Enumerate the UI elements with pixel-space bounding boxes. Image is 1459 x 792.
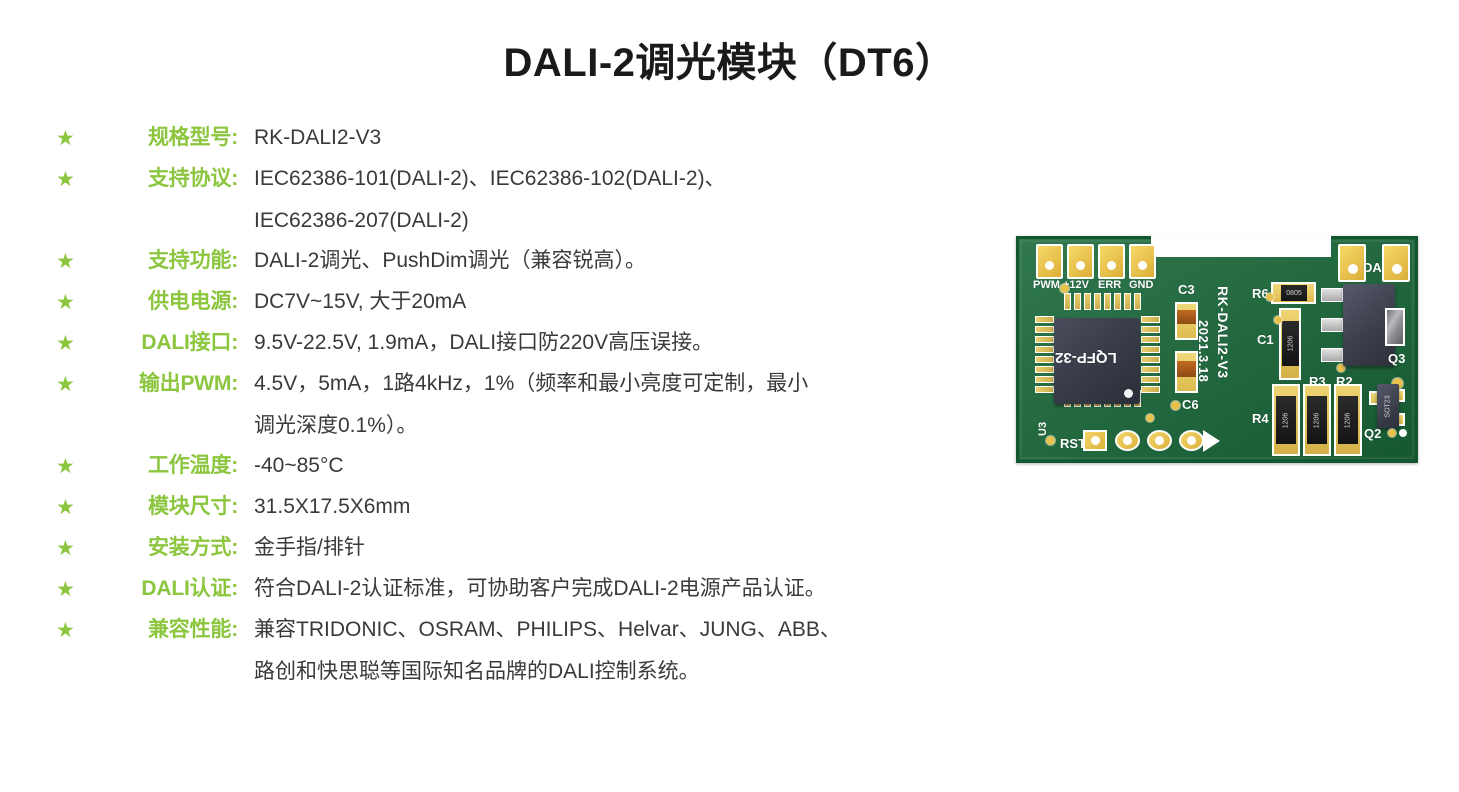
spec-value-line: 金手指/排针 [254,532,1006,563]
via [1266,293,1274,301]
pcb-triangle-marker [1203,430,1220,452]
via [1060,284,1069,293]
mcu-pin [1134,293,1141,310]
spec-label: 供电电源: [90,286,242,317]
component-code: 1206 [1282,412,1289,428]
spec-value: DALI-2调光、PushDim调光（兼容锐高）。 [242,245,1006,276]
star-icon: ★ [56,327,90,359]
star-icon: ★ [56,368,90,400]
mcu-pin [1074,293,1081,310]
star-icon: ★ [56,573,90,605]
star-icon: ★ [56,245,90,277]
mcu-pin [1141,386,1160,393]
silk-label-part-number: RK-DALI2-V3 [1215,286,1231,379]
spec-value-line: 兼容TRIDONIC、OSRAM、PHILIPS、Helvar、JUNG、ABB… [254,614,1006,645]
spec-value: 兼容TRIDONIC、OSRAM、PHILIPS、Helvar、JUNG、ABB… [242,614,1006,687]
spec-label: 工作温度: [90,450,242,481]
page-title: DALI-2调光模块（DT6） [0,30,1459,88]
spec-row: ★ 工作温度: -40~85°C [56,450,1006,482]
spec-value-line: RK-DALI2-V3 [254,122,1006,153]
spec-row: ★ DALI认证: 符合DALI-2认证标准，可协助客户完成DALI-2电源产品… [56,573,1006,605]
star-icon: ★ [56,286,90,318]
mcu-pins-top [1064,293,1144,310]
component-c1-body: 1206 [1282,321,1299,366]
spec-value-line: DALI-2调光、PushDim调光（兼容锐高）。 [254,245,1006,276]
spec-label: 输出PWM: [90,368,242,399]
silk-label-da: DA [1363,260,1382,275]
silk-label-c1: C1 [1257,332,1274,347]
spec-row: ★ 供电电源: DC7V~15V, 大于20mA [56,286,1006,318]
mcu-pin [1141,336,1160,343]
spec-value: 金手指/排针 [242,532,1006,563]
mcu-pin [1035,356,1054,363]
spec-value: 4.5V，5mA，1路4kHz，1%（频率和最小亮度可定制，最小 调光深度0.1… [242,368,1006,441]
mcu-pin [1104,293,1111,310]
mcu-pin1-dot [1124,389,1133,398]
spec-value-line: DC7V~15V, 大于20mA [254,286,1006,317]
pad-hole [1107,261,1116,270]
spec-row: ★ DALI接口: 9.5V-22.5V, 1.9mA，DALI接口防220V高… [56,327,1006,359]
component-c3-body [1177,310,1196,324]
pcb-module-image: PWM +12V ERR GND DA [1016,236,1418,463]
via [1388,429,1396,437]
silk-label-c6: C6 [1182,397,1199,412]
via [1046,436,1055,445]
mcu-pins-left [1035,316,1054,396]
spec-value-line: 路创和快思聪等国际知名品牌的DALI控制系统。 [254,656,1006,687]
spec-value-line: 4.5V，5mA，1路4kHz，1%（频率和最小亮度可定制，最小 [254,368,1006,399]
spec-row: ★ 输出PWM: 4.5V，5mA，1路4kHz，1%（频率和最小亮度可定制，最… [56,368,1006,441]
silk-label-c3: C3 [1178,282,1195,297]
star-icon: ★ [56,450,90,482]
pad-hole [1076,261,1085,270]
silk-label-gnd: GND [1129,279,1153,291]
mcu-pin [1035,376,1054,383]
via [1274,316,1282,324]
pad-hole [1392,264,1402,274]
silk-label-lqfp32: LQFP-32 [1055,349,1117,366]
pad-round-3 [1179,430,1204,451]
pad-da-1 [1338,244,1366,282]
mcu-pin [1035,346,1054,353]
component-code: 1206 [1287,336,1294,352]
mcu-pin [1035,386,1054,393]
spec-label: 兼容性能: [90,614,242,645]
pcb-top-notch [1151,235,1331,257]
pad-hole [1045,261,1054,270]
silk-label-q2: Q2 [1364,426,1381,441]
spec-list: ★ 规格型号: RK-DALI2-V3 ★ 支持协议: IEC62386-101… [56,122,1006,696]
pad-hole [1399,429,1407,437]
spec-value: 31.5X17.5X6mm [242,491,1006,522]
silk-label-date-code: 2021.3.18 [1196,320,1211,382]
mcu-pins-right [1141,316,1160,396]
spec-value: 9.5V-22.5V, 1.9mA，DALI接口防220V高压误接。 [242,327,1006,358]
spec-label: 规格型号: [90,122,242,153]
pad-rst [1083,430,1107,451]
star-icon: ★ [56,122,90,154]
mcu-pin [1141,376,1160,383]
component-r3-body: 1206 [1307,396,1327,444]
spec-row: ★ 安装方式: 金手指/排针 [56,532,1006,564]
spec-label: 支持协议: [90,163,242,194]
star-icon: ★ [56,614,90,646]
via [1146,414,1154,422]
via [1171,401,1180,410]
silk-label-err: ERR [1098,279,1121,291]
component-code: 1206 [1344,412,1351,428]
spec-row: ★ 兼容性能: 兼容TRIDONIC、OSRAM、PHILIPS、Helvar、… [56,614,1006,687]
mcu-pin [1035,326,1054,333]
mcu-pin [1141,356,1160,363]
mcu-pin [1064,293,1071,310]
product-spec-page: DALI-2调光模块（DT6） ★ 规格型号: RK-DALI2-V3 ★ 支持… [0,0,1459,792]
spec-value: RK-DALI2-V3 [242,122,1006,153]
pad-da-2 [1382,244,1410,282]
ic-lead [1321,348,1343,362]
mcu-pin [1141,326,1160,333]
spec-row: ★ 规格型号: RK-DALI2-V3 [56,122,1006,154]
spec-value: 符合DALI-2认证标准，可协助客户完成DALI-2电源产品认证。 [242,573,1006,604]
component-r4-body: 1206 [1276,396,1296,444]
component-c6-body [1177,361,1196,377]
silk-label-q3: Q3 [1388,351,1405,366]
component-r2-body: 1206 [1338,396,1358,444]
mcu-pin [1035,316,1054,323]
mcu-pin [1035,366,1054,373]
pad-hole [1348,264,1358,274]
mcu-pin [1114,293,1121,310]
spec-value: -40~85°C [242,450,1006,481]
component-code: 1206 [1313,412,1320,428]
spec-row: ★ 支持协议: IEC62386-101(DALI-2)、IEC62386-10… [56,163,1006,236]
spec-label: 模块尺寸: [90,491,242,522]
spec-label: DALI接口: [90,327,242,358]
star-icon: ★ [56,532,90,564]
silk-label-r4: R4 [1252,411,1269,426]
component-q3 [1385,308,1405,346]
spec-value: DC7V~15V, 大于20mA [242,286,1006,317]
spec-value-line: 调光深度0.1%）。 [254,410,1006,441]
mcu-pin [1141,366,1160,373]
silk-label-pwm: PWM [1033,279,1060,291]
spec-value: IEC62386-101(DALI-2)、IEC62386-102(DALI-2… [242,163,1006,236]
mcu-pin [1141,346,1160,353]
spec-value-line: 符合DALI-2认证标准，可协助客户完成DALI-2电源产品认证。 [254,573,1006,604]
spec-value-line: IEC62386-101(DALI-2)、IEC62386-102(DALI-2… [254,163,1006,194]
component-q2-body: SOT23 [1379,390,1397,422]
component-code: 0805 [1286,290,1302,297]
spec-value-line: -40~85°C [254,450,1006,481]
silk-label-u3: U3 [1037,422,1049,436]
mcu-pin [1141,316,1160,323]
component-code: SOT23 [1385,395,1392,417]
pad-hole [1138,261,1147,270]
spec-value-line: IEC62386-207(DALI-2) [254,205,1006,236]
spec-label: 安装方式: [90,532,242,563]
spec-value-line: 31.5X17.5X6mm [254,491,1006,522]
spec-value-line: 9.5V-22.5V, 1.9mA，DALI接口防220V高压误接。 [254,327,1006,358]
pad-round-2 [1147,430,1172,451]
mcu-pin [1084,293,1091,310]
spec-label: DALI认证: [90,573,242,604]
ic-lead [1321,318,1343,332]
star-icon: ★ [56,163,90,195]
component-r6-body: 0805 [1281,285,1307,301]
spec-label: 支持功能: [90,245,242,276]
spec-row: ★ 模块尺寸: 31.5X17.5X6mm [56,491,1006,523]
mcu-pin [1124,293,1131,310]
mcu-pin [1035,336,1054,343]
star-icon: ★ [56,491,90,523]
ic-lead [1321,288,1343,302]
spec-row: ★ 支持功能: DALI-2调光、PushDim调光（兼容锐高）。 [56,245,1006,277]
pad-round-1 [1115,430,1140,451]
mcu-pin [1094,293,1101,310]
